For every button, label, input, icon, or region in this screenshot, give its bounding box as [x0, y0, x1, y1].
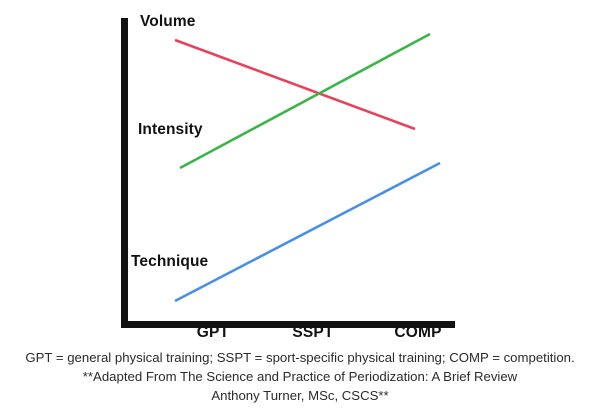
x-tick-label-comp: COMP [394, 324, 441, 342]
x-tick-label-sspt: SSPT [292, 324, 333, 342]
series-label-technique: Technique [131, 253, 208, 271]
series-label-intensity: Intensity [138, 121, 203, 139]
periodization-chart-figure: Volume Intensity Technique GPT SSPT COMP… [0, 0, 600, 410]
chart-plot-area [0, 0, 600, 345]
series-line-intensity [180, 34, 430, 168]
caption-line-author: Anthony Turner, MSc, CSCS** [0, 386, 600, 405]
caption-line-definitions: GPT = general physical training; SSPT = … [0, 348, 600, 367]
series-line-volume [175, 40, 415, 129]
caption-line-source: **Adapted From The Science and Practice … [0, 367, 600, 386]
chart-caption: GPT = general physical training; SSPT = … [0, 348, 600, 405]
x-tick-label-gpt: GPT [197, 324, 229, 342]
series-line-technique [175, 163, 440, 301]
series-label-volume: Volume [140, 13, 195, 31]
